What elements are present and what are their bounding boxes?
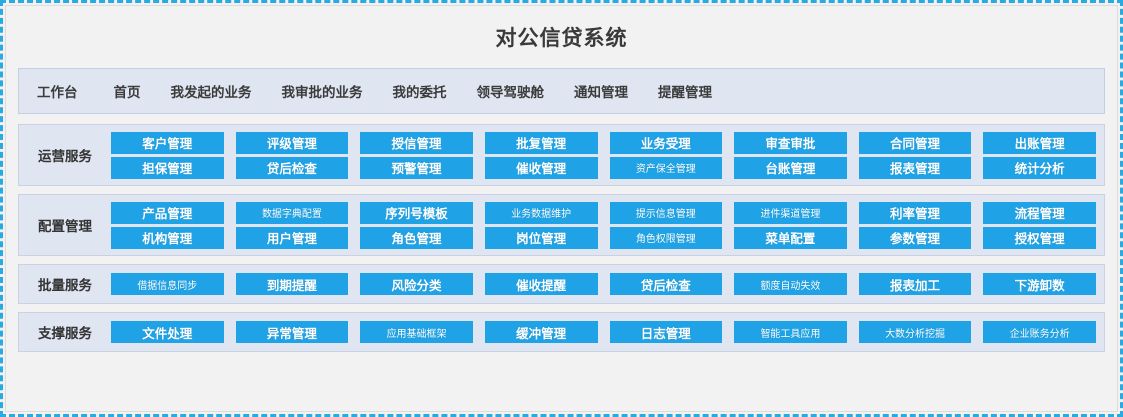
module-tile[interactable]: 预警管理 xyxy=(360,157,473,179)
nav-item-7[interactable]: 提醒管理 xyxy=(658,81,712,101)
module-tile[interactable]: 进件渠道管理 xyxy=(734,202,847,224)
module-tile[interactable]: 催收管理 xyxy=(485,157,598,179)
nav-item-2[interactable]: 我发起的业务 xyxy=(171,81,252,101)
module-tile[interactable]: 出账管理 xyxy=(983,132,1096,154)
module-tile[interactable]: 业务数据维护 xyxy=(485,202,598,224)
module-tile[interactable]: 担保管理 xyxy=(111,157,224,179)
nav-item-3[interactable]: 我审批的业务 xyxy=(282,81,363,101)
module-tile[interactable]: 业务受理 xyxy=(610,132,723,154)
module-tile[interactable]: 参数管理 xyxy=(859,227,972,249)
module-tile[interactable]: 岗位管理 xyxy=(485,227,598,249)
module-tile[interactable]: 序列号模板 xyxy=(360,202,473,224)
module-tile[interactable]: 智能工具应用 xyxy=(734,321,847,343)
section-panel: 配置管理产品管理数据字典配置序列号模板业务数据维护提示信息管理进件渠道管理利率管… xyxy=(18,194,1105,256)
module-tile[interactable]: 催收提醒 xyxy=(485,273,598,295)
module-tile[interactable]: 客户管理 xyxy=(111,132,224,154)
module-tile[interactable]: 文件处理 xyxy=(111,321,224,343)
module-grid: 文件处理异常管理应用基础框架缓冲管理日志管理智能工具应用大数分析挖掘企业账务分析 xyxy=(111,321,1096,343)
nav-item-6[interactable]: 通知管理 xyxy=(574,81,628,101)
module-tile[interactable]: 授权管理 xyxy=(983,227,1096,249)
module-tile[interactable]: 企业账务分析 xyxy=(983,321,1096,343)
module-tile[interactable]: 提示信息管理 xyxy=(610,202,723,224)
module-tile[interactable]: 评级管理 xyxy=(236,132,349,154)
title-bar: 对公信贷系统 xyxy=(18,6,1105,68)
module-tile[interactable]: 到期提醒 xyxy=(236,273,349,295)
module-tile[interactable]: 授信管理 xyxy=(360,132,473,154)
module-tile[interactable]: 报表加工 xyxy=(859,273,972,295)
module-grid: 产品管理数据字典配置序列号模板业务数据维护提示信息管理进件渠道管理利率管理流程管… xyxy=(111,202,1096,249)
section-panel: 批量服务借据信息同步到期提醒风险分类催收提醒贷后检查额度自动失效报表加工下游卸数 xyxy=(18,264,1105,304)
nav-item-5[interactable]: 领导驾驶舱 xyxy=(477,81,545,101)
module-grid: 借据信息同步到期提醒风险分类催收提醒贷后检查额度自动失效报表加工下游卸数 xyxy=(111,273,1096,295)
module-tile[interactable]: 流程管理 xyxy=(983,202,1096,224)
module-tile[interactable]: 报表管理 xyxy=(859,157,972,179)
nav-item-4[interactable]: 我的委托 xyxy=(393,81,447,101)
module-tile[interactable]: 角色权限管理 xyxy=(610,227,723,249)
page-title: 对公信贷系统 xyxy=(496,22,628,52)
application-window: 对公信贷系统 工作台首页我发起的业务我审批的业务我的委托领导驾驶舱通知管理提醒管… xyxy=(0,0,1123,417)
module-tile[interactable]: 合同管理 xyxy=(859,132,972,154)
module-tile[interactable]: 利率管理 xyxy=(859,202,972,224)
module-tile[interactable]: 批复管理 xyxy=(485,132,598,154)
module-tile[interactable]: 资产保全管理 xyxy=(610,157,723,179)
module-tile[interactable]: 统计分析 xyxy=(983,157,1096,179)
section-label: 配置管理 xyxy=(19,215,111,235)
module-sections: 运营服务客户管理评级管理授信管理批复管理业务受理审查审批合同管理出账管理担保管理… xyxy=(18,124,1105,352)
module-tile[interactable]: 异常管理 xyxy=(236,321,349,343)
module-tile[interactable]: 产品管理 xyxy=(111,202,224,224)
module-tile[interactable]: 台账管理 xyxy=(734,157,847,179)
nav-item-0[interactable]: 工作台 xyxy=(37,81,78,101)
section-label: 支撑服务 xyxy=(19,322,111,342)
module-tile[interactable]: 用户管理 xyxy=(236,227,349,249)
module-tile[interactable]: 应用基础框架 xyxy=(360,321,473,343)
module-tile[interactable]: 大数分析挖掘 xyxy=(859,321,972,343)
module-tile[interactable]: 日志管理 xyxy=(610,321,723,343)
module-tile[interactable]: 缓冲管理 xyxy=(485,321,598,343)
module-tile[interactable]: 审查审批 xyxy=(734,132,847,154)
module-tile[interactable]: 借据信息同步 xyxy=(111,273,224,295)
module-tile[interactable]: 风险分类 xyxy=(360,273,473,295)
section-label: 运营服务 xyxy=(19,145,111,165)
module-tile[interactable]: 下游卸数 xyxy=(983,273,1096,295)
module-tile[interactable]: 角色管理 xyxy=(360,227,473,249)
section-panel: 运营服务客户管理评级管理授信管理批复管理业务受理审查审批合同管理出账管理担保管理… xyxy=(18,124,1105,186)
module-tile[interactable]: 数据字典配置 xyxy=(236,202,349,224)
module-grid: 客户管理评级管理授信管理批复管理业务受理审查审批合同管理出账管理担保管理贷后检查… xyxy=(111,132,1096,179)
module-tile[interactable]: 额度自动失效 xyxy=(734,273,847,295)
module-tile[interactable]: 贷后检查 xyxy=(610,273,723,295)
module-tile[interactable]: 贷后检查 xyxy=(236,157,349,179)
nav-item-1[interactable]: 首页 xyxy=(114,81,141,101)
section-panel: 支撑服务文件处理异常管理应用基础框架缓冲管理日志管理智能工具应用大数分析挖掘企业… xyxy=(18,312,1105,352)
module-tile[interactable]: 机构管理 xyxy=(111,227,224,249)
content-pane: 对公信贷系统 工作台首页我发起的业务我审批的业务我的委托领导驾驶舱通知管理提醒管… xyxy=(5,5,1118,412)
main-navigation-bar: 工作台首页我发起的业务我审批的业务我的委托领导驾驶舱通知管理提醒管理 xyxy=(18,68,1105,114)
section-label: 批量服务 xyxy=(19,274,111,294)
module-tile[interactable]: 菜单配置 xyxy=(734,227,847,249)
